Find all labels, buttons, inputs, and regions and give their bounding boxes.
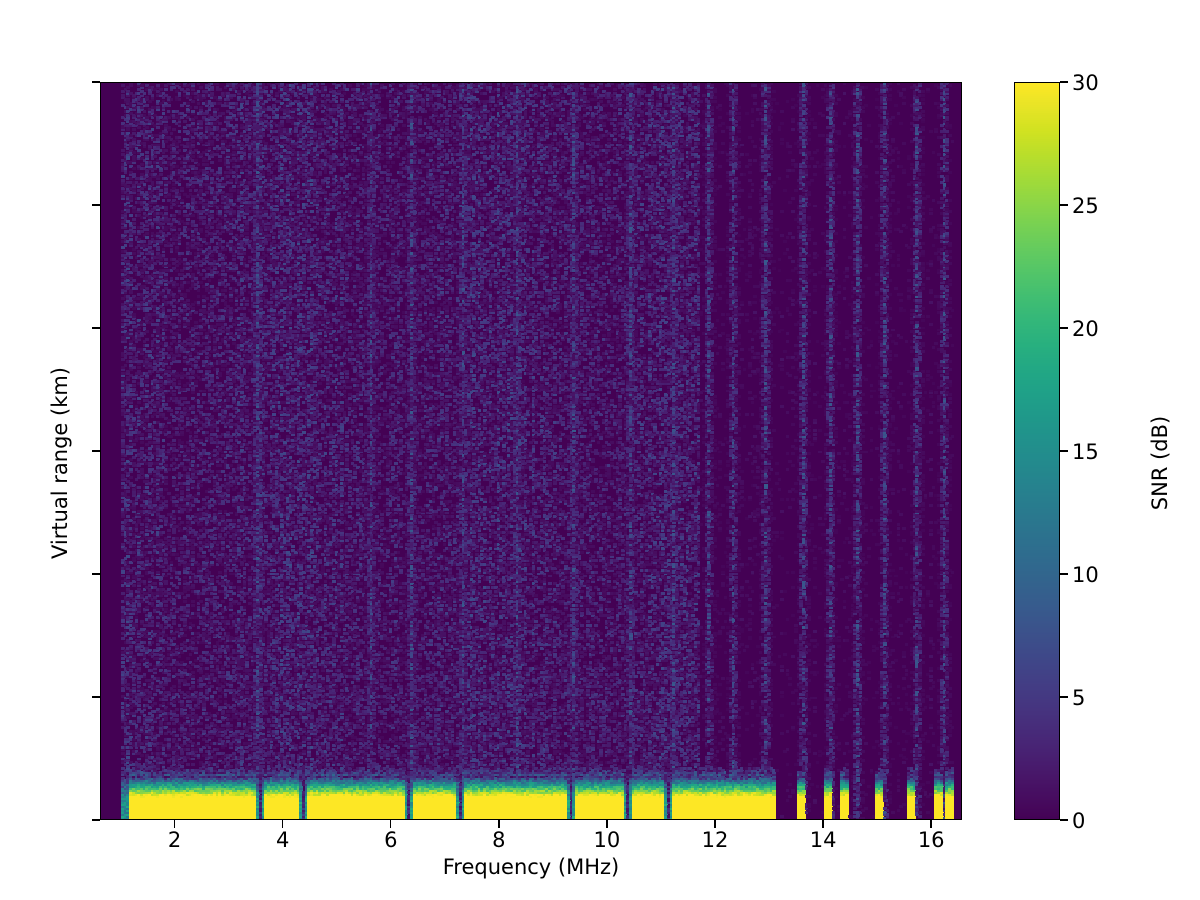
- ionogram-axes[interactable]: [100, 82, 962, 820]
- x-tick-mark: [822, 820, 823, 828]
- colorbar-gradient: [1015, 83, 1060, 820]
- colorbar-tick-label: 5: [1072, 686, 1085, 710]
- y-tick-mark: [92, 327, 100, 328]
- y-tick-mark: [92, 450, 100, 451]
- colorbar-tick-label: 0: [1072, 809, 1085, 833]
- colorbar-label: SNR (dB): [1148, 93, 1172, 833]
- y-axis-label: Virtual range (km): [48, 93, 72, 833]
- x-tick-label: 12: [675, 828, 755, 852]
- colorbar-tick-mark: [1060, 81, 1068, 82]
- y-tick-mark: [92, 573, 100, 574]
- colorbar[interactable]: [1014, 82, 1060, 820]
- y-tick-mark: [92, 81, 100, 82]
- x-tick-label: 14: [783, 828, 863, 852]
- colorbar-tick-mark: [1060, 819, 1068, 820]
- ionogram-heatmap[interactable]: [101, 83, 962, 820]
- y-tick-mark: [92, 204, 100, 205]
- x-tick-label: 16: [891, 828, 971, 852]
- colorbar-tick-mark: [1060, 204, 1068, 205]
- colorbar-tick-label: 10: [1072, 563, 1099, 587]
- ionogram-figure: IRF Kiruna Ionosonde KI167 2025-10-13 08…: [0, 0, 1200, 900]
- x-tick-label: 8: [459, 828, 539, 852]
- x-axis-label: Frequency (MHz): [100, 855, 962, 879]
- colorbar-tick-mark: [1060, 573, 1068, 574]
- x-tick-label: 4: [243, 828, 323, 852]
- colorbar-tick-label: 25: [1072, 194, 1099, 218]
- colorbar-tick-label: 20: [1072, 317, 1099, 341]
- x-tick-mark: [606, 820, 607, 828]
- x-tick-mark: [498, 820, 499, 828]
- x-tick-mark: [930, 820, 931, 828]
- x-tick-mark: [390, 820, 391, 828]
- colorbar-tick-mark: [1060, 450, 1068, 451]
- x-tick-label: 6: [351, 828, 431, 852]
- x-tick-label: 2: [135, 828, 215, 852]
- x-tick-mark: [714, 820, 715, 828]
- x-tick-mark: [282, 820, 283, 828]
- colorbar-tick-mark: [1060, 327, 1068, 328]
- x-tick-mark: [174, 820, 175, 828]
- y-tick-mark: [92, 696, 100, 697]
- x-tick-label: 10: [567, 828, 647, 852]
- colorbar-tick-label: 15: [1072, 440, 1099, 464]
- y-tick-mark: [92, 819, 100, 820]
- colorbar-tick-mark: [1060, 696, 1068, 697]
- colorbar-tick-label: 30: [1072, 71, 1099, 95]
